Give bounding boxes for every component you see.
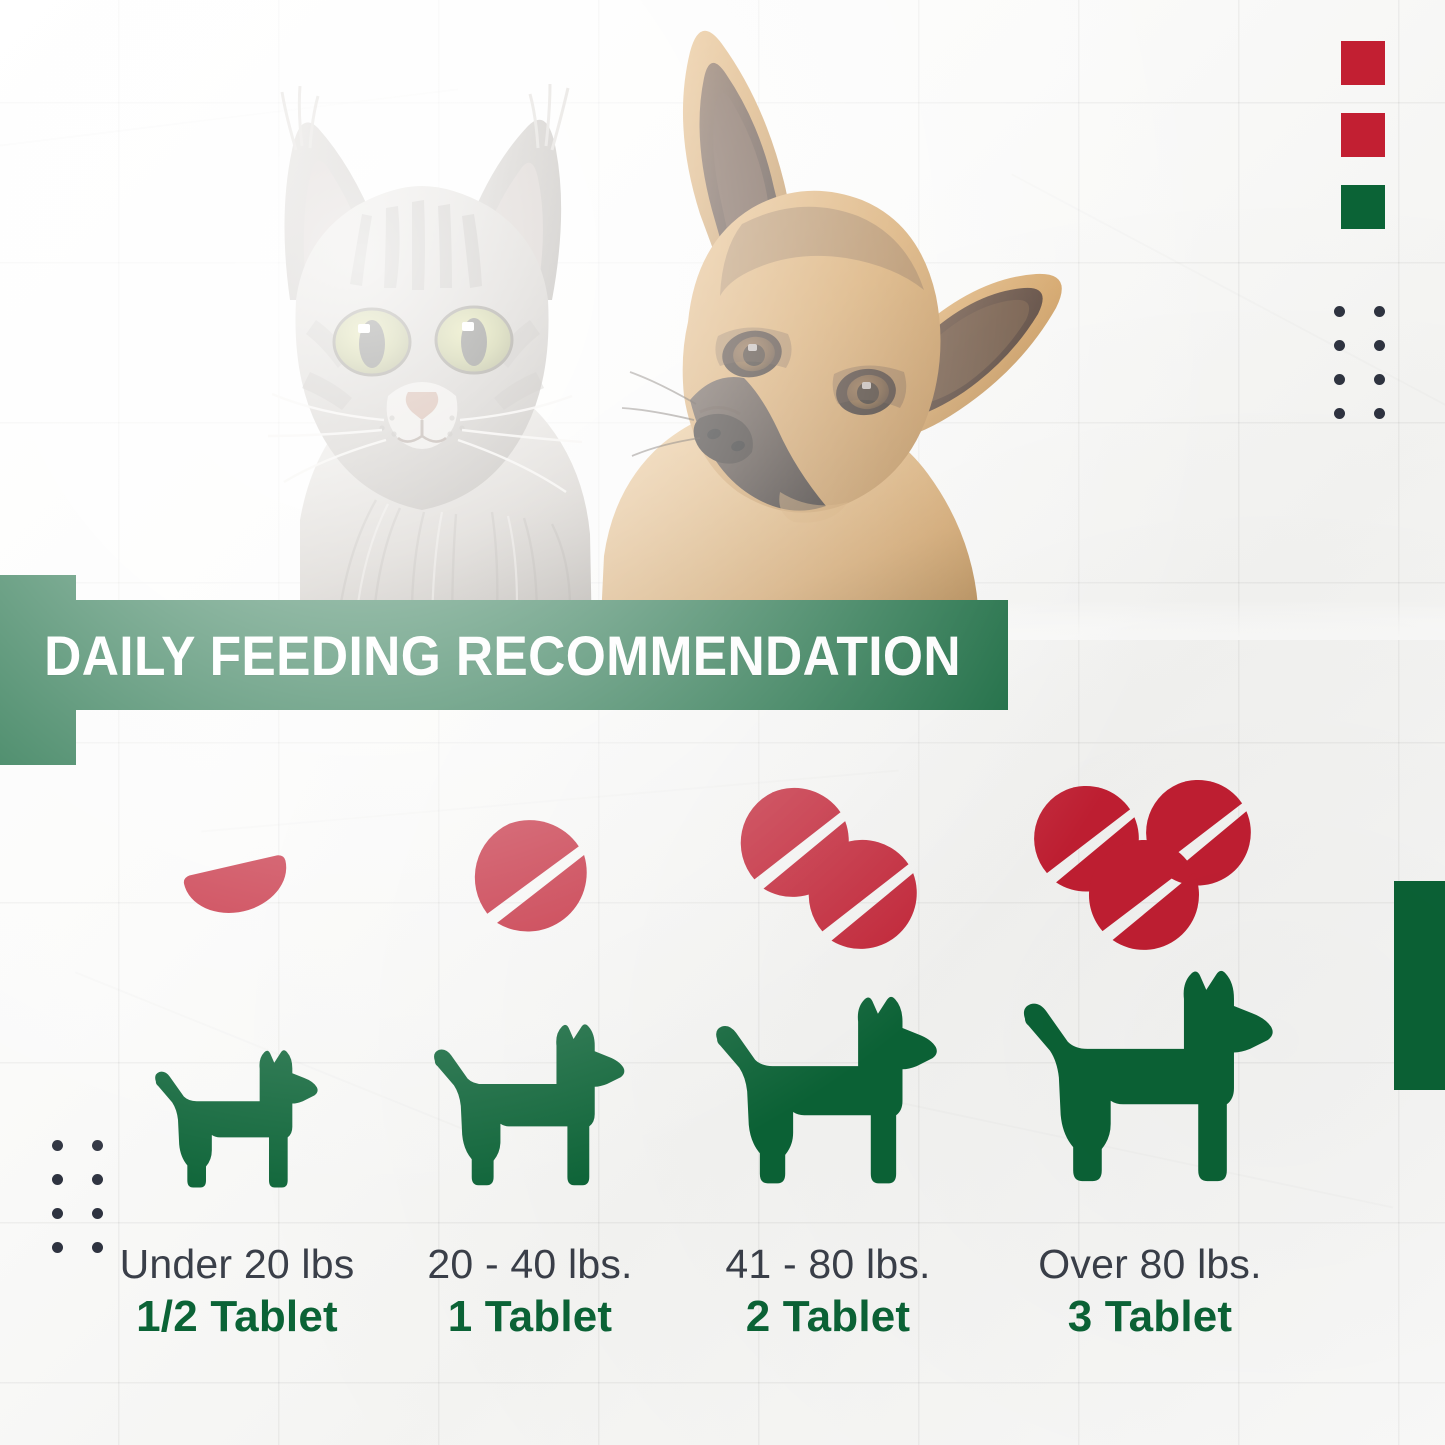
half-tablet-icon bbox=[172, 822, 302, 942]
cat-left-eye bbox=[334, 309, 410, 375]
dose-label-1: 1/2 Tablet bbox=[92, 1294, 382, 1340]
pill-group-2 bbox=[385, 810, 675, 945]
square-red-middle bbox=[1341, 113, 1385, 157]
dose-column-3: 41 - 80 lbs. 2 Tablet bbox=[678, 760, 978, 1400]
one-tablet-icon bbox=[464, 813, 596, 945]
pill-group-3 bbox=[678, 772, 978, 962]
dose-label-4: 3 Tablet bbox=[985, 1294, 1315, 1340]
dosing-chart: Under 20 lbs 1/2 Tablet bbox=[0, 760, 1445, 1400]
two-tablets-icon bbox=[728, 782, 928, 962]
dog-silhouette-small-icon bbox=[150, 1045, 325, 1200]
square-green-bottom bbox=[1341, 185, 1385, 229]
dose-labels-2: 20 - 40 lbs. 1 Tablet bbox=[385, 1243, 675, 1340]
banner-bar: DAILY FEEDING RECOMMENDATION bbox=[0, 600, 1008, 710]
dose-labels-3: 41 - 80 lbs. 2 Tablet bbox=[678, 1243, 978, 1340]
dose-column-1: Under 20 lbs 1/2 Tablet bbox=[92, 760, 382, 1400]
weight-label-2: 20 - 40 lbs. bbox=[385, 1243, 675, 1286]
dose-labels-1: Under 20 lbs 1/2 Tablet bbox=[92, 1243, 382, 1340]
dog-icon-box-4 bbox=[985, 928, 1315, 1200]
hero-photo bbox=[0, 0, 1445, 640]
dog-silhouette-medium-icon bbox=[428, 1018, 633, 1200]
dose-label-3: 2 Tablet bbox=[678, 1294, 978, 1340]
dose-column-4: Over 80 lbs. 3 Tablet bbox=[985, 760, 1315, 1400]
dose-labels-4: Over 80 lbs. 3 Tablet bbox=[985, 1243, 1315, 1340]
dose-label-2: 1 Tablet bbox=[385, 1294, 675, 1340]
dog-silhouette-large-icon bbox=[709, 990, 947, 1200]
square-red-top bbox=[1341, 41, 1385, 85]
dog-silhouette-xlarge-icon bbox=[1016, 963, 1284, 1200]
weight-label-1: Under 20 lbs bbox=[92, 1243, 382, 1286]
weight-label-3: 41 - 80 lbs. bbox=[678, 1243, 978, 1286]
dog-icon-box-2 bbox=[385, 975, 675, 1200]
weight-label-4: Over 80 lbs. bbox=[985, 1243, 1315, 1286]
dot-grid-top-right bbox=[1334, 306, 1396, 418]
page-title: DAILY FEEDING RECOMMENDATION bbox=[0, 623, 961, 688]
infographic-canvas: DAILY FEEDING RECOMMENDATION Under 20 lb… bbox=[0, 0, 1445, 1445]
cat-right-eye bbox=[436, 307, 512, 373]
pill-group-1 bbox=[92, 822, 382, 942]
dog-icon-box-3 bbox=[678, 950, 978, 1200]
dose-column-2: 20 - 40 lbs. 1 Tablet bbox=[385, 760, 675, 1400]
dog-icon-box-1 bbox=[92, 1000, 382, 1200]
